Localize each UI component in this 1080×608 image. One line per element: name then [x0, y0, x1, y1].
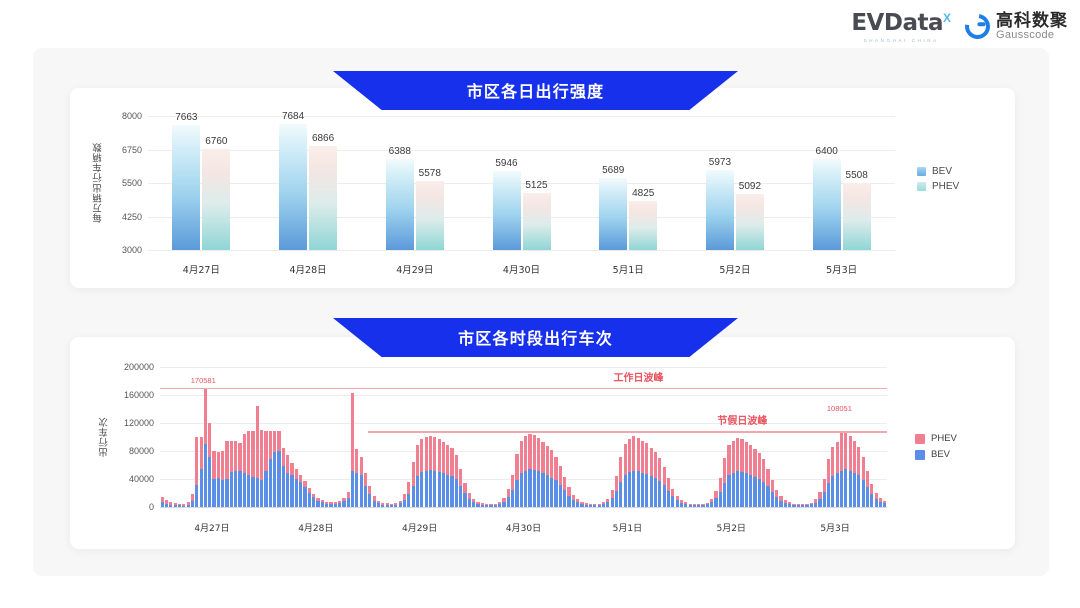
trip-bar-bev — [368, 494, 371, 507]
trip-bar-column — [247, 431, 250, 507]
legend-item-phev[interactable]: PHEV — [915, 433, 957, 444]
trip-bar-bev — [225, 479, 228, 507]
trip-bar-column — [862, 457, 865, 507]
bar-value-label: 5125 — [525, 180, 547, 191]
legend-label-phev: PHEV — [931, 433, 957, 444]
trip-bar-phev — [524, 436, 527, 470]
trip-bar-bev — [459, 486, 462, 507]
legend-daily-intensity: BEVPHEV — [917, 166, 959, 192]
trip-bar-phev — [234, 441, 237, 471]
trip-bar-phev — [364, 473, 367, 486]
trip-bar-column — [303, 481, 306, 507]
trip-bar-column — [277, 431, 280, 507]
trip-bar-column — [468, 493, 471, 507]
trip-bar-column — [472, 499, 475, 507]
trip-bar-column — [611, 490, 614, 507]
ytick-trips: 0 — [110, 502, 154, 512]
bar-value-label: 5578 — [419, 168, 441, 179]
trip-bar-bev — [753, 477, 756, 507]
trip-bar-phev — [862, 457, 865, 480]
trip-bar-phev — [420, 439, 423, 472]
trip-bar-phev — [758, 453, 761, 479]
trip-bar-column — [511, 475, 514, 507]
trip-bar-column — [823, 479, 826, 507]
bar-bev — [279, 124, 307, 250]
trip-bar-bev — [645, 474, 648, 507]
peak-value-label: 170581 — [191, 376, 216, 385]
trip-bar-bev — [303, 487, 306, 507]
xtick-trips: 4月28日 — [298, 521, 333, 534]
trip-bar-bev — [295, 479, 298, 507]
trip-bar-bev — [541, 473, 544, 507]
trip-bar-phev — [827, 459, 830, 483]
card-hourly-trips: 出行车次040000800001200001600002000004月27日4月… — [70, 337, 1015, 549]
trip-bar-phev — [520, 441, 523, 473]
trip-bar-column — [572, 495, 575, 507]
trip-bar-phev — [212, 451, 215, 479]
gridline-intensity — [148, 116, 895, 117]
trip-bar-column — [238, 443, 241, 507]
gridline-intensity — [148, 150, 895, 151]
bar-value-label: 6388 — [389, 146, 411, 157]
trip-bar-phev — [727, 445, 730, 475]
trip-bar-phev — [840, 431, 843, 470]
trip-bar-phev — [537, 438, 540, 472]
trip-bar-column — [450, 448, 453, 507]
gridline-trips — [160, 395, 887, 396]
xtick-intensity: 5月1日 — [613, 262, 644, 276]
trip-bar-phev — [429, 436, 432, 470]
bar-value-label: 7684 — [282, 111, 304, 122]
gridline-intensity — [148, 183, 895, 184]
trip-bar-column — [420, 439, 423, 507]
trip-bar-column — [342, 498, 345, 507]
trip-bar-phev — [264, 431, 267, 470]
trip-bar-phev — [823, 479, 826, 492]
trip-bar-phev — [221, 451, 224, 480]
trip-bar-column — [351, 393, 354, 507]
trip-bar-bev — [727, 475, 730, 507]
trip-bar-bev — [533, 470, 536, 507]
trip-bar-phev — [762, 459, 765, 481]
trip-bar-bev — [857, 475, 860, 507]
trip-bar-column — [520, 441, 523, 507]
trip-bar-phev — [360, 457, 363, 475]
trip-bar-bev — [745, 473, 748, 507]
xtick-intensity: 5月3日 — [826, 262, 857, 276]
trip-bar-phev — [671, 489, 674, 497]
legend-swatch-phev — [917, 182, 926, 191]
trip-bar-column — [753, 449, 756, 507]
trip-bar-bev — [200, 469, 203, 507]
annotation-label: 工作日波峰 — [614, 369, 664, 384]
trip-bar-phev — [368, 486, 371, 494]
trip-bar-phev — [282, 448, 285, 466]
ytick-trips: 40000 — [110, 474, 154, 484]
evdata-logo: EVData X shanghai china — [851, 10, 951, 43]
bar-phev — [523, 193, 551, 250]
trip-bar-bev — [416, 476, 419, 507]
trip-bar-phev — [511, 475, 514, 490]
trip-bar-phev — [463, 483, 466, 494]
trip-bar-bev — [286, 473, 289, 507]
trip-bar-bev — [567, 496, 570, 507]
trip-bar-column — [779, 496, 782, 507]
trip-bar-phev — [559, 466, 562, 485]
trip-bar-bev — [308, 493, 311, 507]
trip-bar-phev — [619, 457, 622, 482]
trip-bar-phev — [624, 444, 627, 475]
trip-bar-column — [221, 451, 224, 507]
trip-bar-phev — [260, 430, 263, 480]
trip-bar-bev — [468, 499, 471, 507]
legend-label-bev: BEV — [932, 166, 952, 177]
trip-bar-bev — [650, 476, 653, 507]
trip-bar-bev — [282, 466, 285, 507]
trip-bar-column — [676, 496, 679, 507]
trip-bar-column — [364, 473, 367, 507]
trip-bar-column — [563, 477, 566, 507]
trip-bar-bev — [204, 444, 207, 507]
trip-bar-bev — [364, 486, 367, 507]
trip-bar-column — [650, 448, 653, 508]
bar-value-label: 5508 — [846, 170, 868, 181]
trip-bar-bev — [615, 491, 618, 507]
trip-bar-column — [225, 441, 228, 508]
banner-title-hourly-trips: 市区各时段出行车次 — [458, 325, 613, 349]
trip-bar-phev — [632, 436, 635, 470]
xtick-intensity: 4月29日 — [396, 262, 433, 276]
trip-bar-bev — [818, 499, 821, 507]
trip-bar-bev — [637, 471, 640, 507]
trip-bar-column — [212, 451, 215, 507]
trip-bar-column — [446, 445, 449, 507]
chart-daily-intensity: 每万辆出行车辆数30004250550067508000766367604月27… — [70, 88, 1015, 288]
trip-bar-column — [827, 459, 830, 507]
trip-bar-phev — [723, 458, 726, 483]
bar-value-label: 7663 — [175, 112, 197, 123]
trip-bar-column — [546, 446, 549, 507]
trip-bar-bev — [442, 473, 445, 507]
banner-hourly-trips: 市区各时段出行车次 — [333, 318, 738, 357]
trip-bar-bev — [238, 471, 241, 507]
trip-bar-bev — [463, 493, 466, 507]
trip-bar-bev — [425, 471, 428, 507]
trip-bar-phev — [412, 462, 415, 486]
trip-bar-phev — [745, 442, 748, 474]
trip-bar-column — [736, 438, 739, 507]
trip-bar-phev — [541, 442, 544, 474]
trip-bar-column — [667, 478, 670, 507]
trip-bar-bev — [450, 476, 453, 507]
bar-bev — [172, 125, 200, 250]
trip-bar-bev — [412, 486, 415, 507]
trip-bar-column — [663, 467, 666, 507]
trip-bar-phev — [247, 431, 250, 474]
trip-bar-phev — [204, 388, 207, 444]
trip-bar-column — [745, 442, 748, 507]
trip-bar-column — [459, 469, 462, 507]
trip-bar-column — [541, 442, 544, 507]
evdata-superscript-x: X — [943, 11, 951, 25]
trip-bar-bev — [866, 487, 869, 507]
dashboard-page: EVData X shanghai china 高科数聚 Gausscode 市… — [0, 0, 1080, 608]
trip-bar-phev — [654, 452, 657, 479]
annotation-label: 节假日波峰 — [717, 412, 767, 427]
trip-bar-column — [463, 483, 466, 508]
trip-bar-bev — [511, 490, 514, 507]
bar-phev — [736, 194, 764, 250]
trip-bar-bev — [277, 451, 280, 507]
trip-bar-bev — [212, 479, 215, 507]
trip-bar-column — [537, 438, 540, 507]
trip-bar-bev — [507, 497, 510, 507]
bar-bev — [706, 170, 734, 250]
trip-bar-phev — [658, 458, 661, 481]
trip-bar-phev — [256, 406, 259, 478]
legend-hourly-trips: PHEVBEV — [915, 433, 957, 460]
legend-item-bev[interactable]: BEV — [915, 449, 957, 460]
trip-bar-phev — [663, 467, 666, 485]
trip-bar-column — [347, 492, 350, 507]
bar-phev — [843, 183, 871, 250]
axis-title-y-trips: 出行车次 — [98, 367, 112, 507]
ytick-trips: 200000 — [110, 362, 154, 372]
bar-bev — [386, 159, 414, 250]
trip-bar-phev — [200, 437, 203, 469]
trip-bar-column — [576, 499, 579, 507]
ytick-intensity: 6750 — [108, 145, 142, 155]
trip-bar-phev — [567, 487, 570, 495]
trip-bar-column — [524, 436, 527, 507]
trip-bar-column — [515, 454, 518, 507]
trip-bar-bev — [836, 473, 839, 507]
trip-bar-column — [866, 471, 869, 507]
trip-bar-phev — [225, 441, 228, 480]
trip-bar-column — [550, 450, 553, 507]
ytick-intensity: 4250 — [108, 212, 142, 222]
trip-bar-column — [875, 493, 878, 507]
trip-bar-phev — [355, 449, 358, 474]
bar-phev — [629, 201, 657, 250]
banner-title-daily-intensity: 市区各日出行强度 — [467, 78, 605, 102]
trip-bar-phev — [515, 454, 518, 481]
trip-bar-bev — [572, 500, 575, 507]
trip-bar-bev — [667, 491, 670, 507]
trip-bar-phev — [208, 423, 211, 457]
trip-bar-column — [299, 475, 302, 507]
trip-bar-column — [533, 435, 536, 507]
legend-item-phev[interactable]: PHEV — [917, 181, 959, 192]
trip-bar-bev — [775, 497, 778, 507]
trip-bar-bev — [771, 492, 774, 507]
trip-bar-bev — [749, 475, 752, 507]
xtick-intensity: 4月27日 — [183, 262, 220, 276]
trip-bar-bev — [438, 472, 441, 507]
trip-bar-phev — [450, 448, 453, 476]
trip-bar-bev — [269, 459, 272, 507]
trip-bar-bev — [740, 472, 743, 507]
trip-bar-phev — [628, 439, 631, 472]
trip-bar-bev — [347, 498, 350, 507]
trip-bar-column — [208, 423, 211, 507]
trip-bar-phev — [641, 441, 644, 473]
trip-bar-column — [455, 455, 458, 507]
trip-bar-phev — [243, 434, 246, 474]
gridline-trips — [160, 423, 887, 424]
trip-bar-phev — [844, 431, 847, 469]
trip-bar-phev — [407, 482, 410, 495]
trip-bar-column — [191, 494, 194, 507]
trip-bar-column — [355, 449, 358, 507]
annotation-line — [368, 431, 887, 433]
peak-value-label: 108051 — [827, 404, 852, 413]
trip-bar-bev — [831, 476, 834, 507]
trip-bar-bev — [546, 475, 549, 507]
trip-bar-column — [230, 441, 233, 508]
trip-bar-phev — [563, 477, 566, 490]
trip-bar-column — [615, 476, 618, 507]
bar-value-label: 5973 — [709, 157, 731, 168]
bar-value-label: 6866 — [312, 133, 334, 144]
trip-bar-column — [442, 442, 445, 507]
trip-bar-bev — [723, 483, 726, 508]
gridline-intensity — [148, 250, 895, 251]
trip-bar-column — [853, 441, 856, 508]
trip-bar-phev — [299, 475, 302, 483]
evdata-name: EVData — [851, 10, 943, 36]
legend-label-bev: BEV — [931, 449, 950, 460]
legend-item-bev[interactable]: BEV — [917, 166, 959, 177]
trip-bar-phev — [714, 491, 717, 498]
trip-bar-phev — [849, 436, 852, 471]
trip-bar-column — [425, 437, 428, 507]
ytick-intensity: 5500 — [108, 178, 142, 188]
trip-bar-phev — [831, 447, 834, 476]
chart-hourly-trips: 出行车次040000800001200001600002000004月27日4月… — [70, 337, 1015, 549]
trip-bar-column — [710, 499, 713, 507]
trip-bar-bev — [827, 483, 830, 507]
trip-bar-phev — [433, 437, 436, 471]
trip-bar-column — [528, 434, 531, 508]
trip-bar-phev — [836, 442, 839, 474]
gausscode-logo: 高科数聚 Gausscode — [965, 12, 1068, 41]
trip-bar-bev — [234, 471, 237, 507]
trip-bar-column — [264, 431, 267, 507]
trip-bar-phev — [753, 449, 756, 477]
trip-bar-bev — [515, 480, 518, 507]
trip-bar-bev — [628, 472, 631, 507]
bar-phev — [416, 181, 444, 250]
trip-bar-column — [269, 431, 272, 507]
trip-bar-phev — [857, 447, 860, 476]
trip-bar-bev — [251, 477, 254, 507]
trip-bar-bev — [766, 486, 769, 507]
trip-bar-bev — [840, 471, 843, 507]
trip-bar-phev — [615, 476, 618, 491]
card-daily-intensity: 每万辆出行车辆数30004250550067508000766367604月27… — [70, 88, 1015, 288]
trip-bar-bev — [624, 475, 627, 507]
trip-bar-bev — [619, 482, 622, 507]
bar-phev — [309, 146, 337, 250]
trip-bar-phev — [251, 431, 254, 477]
gausscode-chinese-name: 高科数聚 — [996, 12, 1068, 30]
trip-bar-phev — [442, 442, 445, 474]
trip-bar-column — [407, 482, 410, 507]
trip-bar-column — [680, 500, 683, 507]
trip-bar-column — [758, 453, 761, 507]
trip-bar-column — [840, 431, 843, 507]
trip-bar-bev — [429, 470, 432, 507]
bar-value-label: 6400 — [816, 146, 838, 157]
trip-bar-column — [373, 496, 376, 507]
legend-swatch-bev — [915, 450, 925, 460]
trip-bar-column — [740, 439, 743, 507]
trip-bar-column — [771, 480, 774, 507]
legend-swatch-phev — [915, 434, 925, 444]
trip-bar-bev — [221, 480, 224, 507]
trip-bar-phev — [238, 443, 241, 471]
trip-bar-column — [784, 500, 787, 507]
ytick-intensity: 8000 — [108, 111, 142, 121]
trip-bar-phev — [533, 435, 536, 470]
trip-bar-column — [251, 431, 254, 507]
trip-bar-column — [286, 455, 289, 507]
trip-bar-column — [312, 494, 315, 507]
trip-bar-phev — [736, 438, 739, 472]
bar-bev — [813, 159, 841, 250]
trip-bar-phev — [446, 445, 449, 475]
bar-value-label: 5689 — [602, 165, 624, 176]
trip-bar-phev — [191, 494, 194, 501]
trip-bar-bev — [433, 471, 436, 507]
trip-bar-bev — [217, 478, 220, 507]
trip-bar-column — [836, 442, 839, 507]
trip-bar-phev — [286, 455, 289, 473]
xtick-trips: 4月27日 — [194, 521, 229, 534]
trip-bar-column — [438, 439, 441, 507]
trip-bar-bev — [671, 496, 674, 507]
bar-bev — [493, 171, 521, 250]
xtick-trips: 5月3日 — [820, 521, 849, 534]
trip-bar-column — [559, 466, 562, 507]
trip-bar-column — [671, 489, 674, 507]
trip-bar-bev — [260, 480, 263, 507]
trip-bar-column — [624, 444, 627, 507]
trip-bar-phev — [650, 448, 653, 477]
trip-bar-column — [204, 388, 207, 507]
trip-bar-bev — [641, 473, 644, 507]
trip-bar-column — [321, 500, 324, 507]
trip-bar-bev — [736, 471, 739, 507]
xtick-trips: 5月1日 — [613, 521, 642, 534]
trip-bar-phev — [667, 478, 670, 491]
trip-bar-column — [273, 431, 276, 507]
trip-bar-phev — [438, 439, 441, 472]
trip-bar-column — [749, 445, 752, 507]
trip-bar-phev — [771, 480, 774, 492]
trip-bar-column — [200, 437, 203, 507]
axis-baseline-trips — [160, 507, 887, 508]
xtick-intensity: 4月28日 — [289, 262, 326, 276]
trip-bar-bev — [862, 480, 865, 507]
trip-bar-column — [433, 437, 436, 507]
legend-swatch-bev — [917, 167, 926, 176]
trip-bar-column — [870, 484, 873, 507]
trip-bar-phev — [740, 439, 743, 472]
trip-bar-column — [879, 498, 882, 507]
ytick-trips: 80000 — [110, 446, 154, 456]
